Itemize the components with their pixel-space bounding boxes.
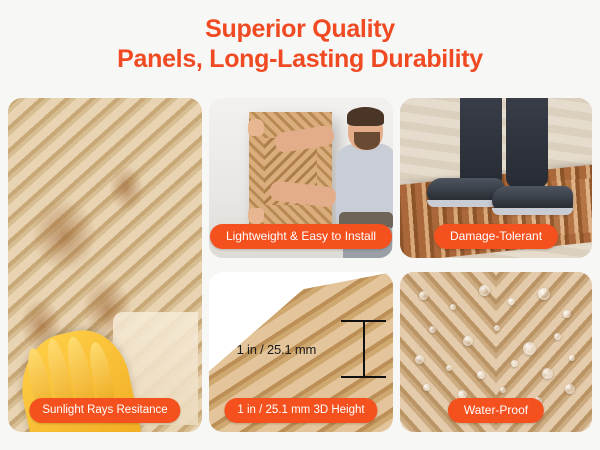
water-droplet xyxy=(479,285,490,296)
badge-sunlight[interactable]: Sunlight Rays Resitance xyxy=(29,398,180,423)
right-shoe-sole xyxy=(492,208,573,214)
feature-panel-grid: Lightweight & Easy to Install Damage-Tol… xyxy=(8,98,592,432)
left-leg xyxy=(460,98,502,188)
dimension-label: 1 in / 25.1 mm xyxy=(237,342,317,357)
feature-panel-damage-tolerant[interactable]: Damage-Tolerant xyxy=(400,98,592,258)
feature-panel-lightweight[interactable]: Lightweight & Easy to Install xyxy=(209,98,393,258)
page-title: Superior Quality Panels, Long-Lasting Du… xyxy=(0,14,600,74)
water-droplet xyxy=(508,298,515,305)
installer-hand-bottom xyxy=(248,208,265,224)
water-droplet xyxy=(542,368,553,379)
feature-panel-waterproof[interactable]: Water-Proof xyxy=(400,272,592,432)
sunlight-resistance-photo xyxy=(8,98,202,432)
badge-damage-tolerant[interactable]: Damage-Tolerant xyxy=(434,224,558,249)
water-droplet xyxy=(423,384,430,391)
headline-line-2: Panels, Long-Lasting Durability xyxy=(0,44,600,74)
dimension-cap-bottom xyxy=(341,376,385,378)
dimension-marker-icon xyxy=(341,320,385,378)
dimension-stem xyxy=(363,320,365,378)
water-droplet xyxy=(477,371,485,379)
water-droplet xyxy=(500,387,506,393)
sun-stain-mark xyxy=(109,165,144,212)
water-droplet xyxy=(494,325,500,331)
sun-stain-mark xyxy=(31,198,97,271)
installer-hand-top xyxy=(248,119,265,137)
badge-lightweight[interactable]: Lightweight & Easy to Install xyxy=(210,224,392,249)
installer-hair xyxy=(347,107,384,125)
water-droplet xyxy=(446,365,452,371)
right-leg xyxy=(506,98,548,188)
feature-panel-sunlight[interactable]: Sunlight Rays Resitance xyxy=(8,98,202,432)
badge-waterproof[interactable]: Water-Proof xyxy=(448,398,544,423)
water-droplet xyxy=(554,333,561,340)
badge-height[interactable]: 1 in / 25.1 mm 3D Height xyxy=(224,398,377,423)
water-droplet xyxy=(450,304,456,310)
feature-panel-height[interactable]: 1 in / 25.1 mm 1 in / 25.1 mm 3D Height xyxy=(209,272,393,432)
headline-line-1: Superior Quality xyxy=(205,15,395,43)
